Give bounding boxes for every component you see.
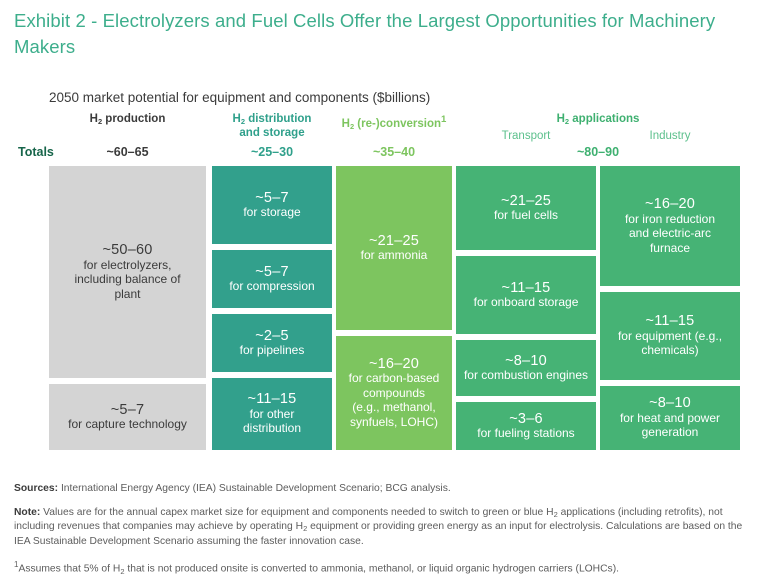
cell-label: for heat and powergeneration [620,411,720,440]
cell-storage[interactable]: ~5–7 for storage [212,166,332,244]
cell-fuel-cells[interactable]: ~21–25 for fuel cells [456,166,596,250]
cell-value: ~2–5 [255,329,288,344]
cell-value: ~5–7 [255,191,288,206]
cell-label: for iron reductionand electric-arcfurnac… [625,212,715,256]
cell-value: ~5–7 [255,265,288,280]
cell-other-distribution[interactable]: ~11–15 for otherdistribution [212,378,332,450]
cell-value: ~21–25 [369,234,419,249]
cell-iron-reduction[interactable]: ~16–20 for iron reductionand electric-ar… [600,166,740,286]
cell-compression[interactable]: ~5–7 for compression [212,250,332,308]
note-text-a: Values are for the annual capex market s… [40,507,553,518]
cell-pipelines[interactable]: ~2–5 for pipelines [212,314,332,372]
cell-label: for combustion engines [464,368,588,383]
sources-label: Sources: [14,483,58,494]
cell-value: ~8–10 [649,396,691,411]
column-h2-distribution: ~5–7 for storage ~5–7 for compression ~2… [212,166,332,450]
footnote-1-text-a: Assumes that 5% of H [18,564,120,575]
cell-value: ~11–15 [502,281,551,296]
cell-ammonia[interactable]: ~21–25 for ammonia [336,166,452,330]
cell-value: ~16–20 [645,197,695,212]
cell-equipment-chemicals[interactable]: ~11–15 for equipment (e.g.,chemicals) [600,292,740,380]
cell-label: for carbon-basedcompounds(e.g., methanol… [349,371,440,429]
cell-label: for capture technology [68,417,187,432]
cell-fueling-stations[interactable]: ~3–6 for fueling stations [456,402,596,450]
cell-label: for onboard storage [474,295,579,310]
cell-label: for fueling stations [477,426,574,441]
cell-label: for equipment (e.g.,chemicals) [618,329,722,358]
note-label: Note: [14,507,40,518]
column-h2-production: ~50–60 for electrolyzers,including balan… [49,166,206,450]
cell-value: ~50–60 [103,243,153,258]
cell-value: ~5–7 [111,403,144,418]
cell-label: for ammonia [361,248,428,263]
cell-value: ~3–6 [509,412,542,427]
cell-capture-technology[interactable]: ~5–7 for capture technology [49,384,206,450]
cell-value: ~16–20 [369,357,419,372]
footnote-1-text-b: that is not produced onsite is converted… [125,564,620,575]
cell-onboard-storage[interactable]: ~11–15 for onboard storage [456,256,596,334]
cell-value: ~11–15 [646,314,695,329]
cell-label: for compression [229,279,314,294]
cell-value: ~11–15 [248,392,297,407]
cell-heat-power-generation[interactable]: ~8–10 for heat and powergeneration [600,386,740,450]
general-note: Note: Values are for the annual capex ma… [14,506,756,550]
column-transport: ~21–25 for fuel cells ~11–15 for onboard… [456,166,596,450]
cell-value: ~8–10 [505,354,547,369]
cell-carbon-based-compounds[interactable]: ~16–20 for carbon-basedcompounds(e.g., m… [336,336,452,450]
cell-value: ~21–25 [501,194,551,209]
cell-label: for otherdistribution [243,407,301,436]
cell-electrolyzers[interactable]: ~50–60 for electrolyzers,including balan… [49,166,206,378]
footnotes: Sources: International Energy Agency (IE… [14,482,756,586]
footnote-1: 1Assumes that 5% of H2 that is not produ… [14,558,756,577]
sources-note: Sources: International Energy Agency (IE… [14,482,756,497]
note-subscript-2: 2 [303,524,307,533]
cell-combustion-engines[interactable]: ~8–10 for combustion engines [456,340,596,396]
cell-label: for fuel cells [494,208,558,223]
note-subscript-1: 2 [554,510,558,519]
column-h2-conversion: ~21–25 for ammonia ~16–20 for carbon-bas… [336,166,452,450]
column-industry: ~16–20 for iron reductionand electric-ar… [600,166,740,450]
cell-label: for storage [243,205,300,220]
cell-label: for pipelines [240,343,305,358]
cell-label: for electrolyzers,including balance ofpl… [74,258,180,302]
footnote-subscript: 2 [120,567,124,576]
sources-text: International Energy Agency (IEA) Sustai… [58,483,451,494]
